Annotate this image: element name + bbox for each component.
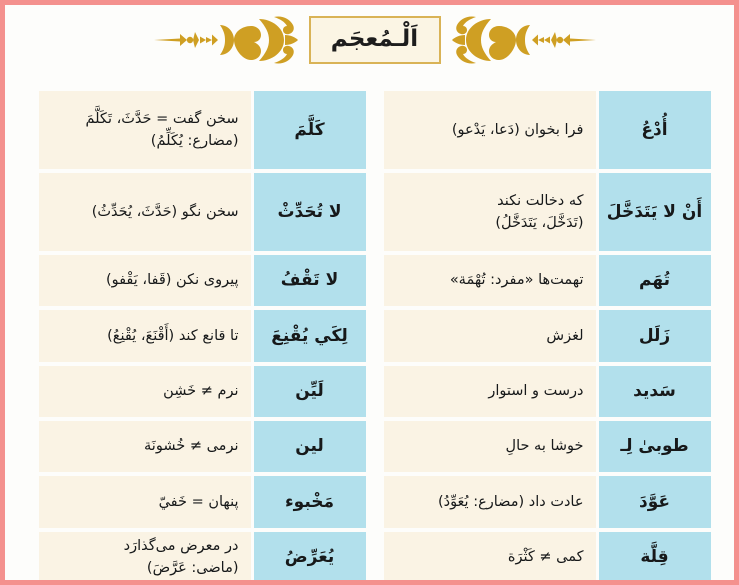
meaning-cell: سخن گفت = حَدَّثَ، تَکَلَّمَ (مضارع: یُک…: [39, 91, 251, 169]
word-text: قِلَّة: [640, 546, 668, 569]
meaning-text: خوشا به حالِ: [396, 435, 584, 457]
word-text: زَلَل: [639, 325, 670, 348]
meaning-cell: که دخالت نکند (تَدَخَّلَ، یَتَدَخَّلُ): [384, 173, 596, 251]
word-cell: لِکَي یُقْنِعَ: [254, 310, 366, 361]
word-text: سَدید: [633, 380, 676, 403]
word-cell: مَخْبوء: [254, 476, 366, 527]
word-text: لا تُحَدِّثْ: [277, 201, 341, 224]
meaning-text: سخن نگو (حَدَّثَ، یُحَدِّثُ): [51, 201, 239, 223]
meaning-cell: پیروی نکن (قَفا، یَقْفو): [39, 255, 251, 306]
word-cell: یُعَرِّضُ: [254, 532, 366, 583]
meaning-cell: عادت داد (مضارع: یُعَوِّدُ): [384, 476, 596, 527]
word-cell: تُهَم: [599, 255, 711, 306]
right-table: أُدْعُ فرا بخوان (دَعا، یَدْعو) أَنْ لا …: [384, 91, 711, 583]
word-cell: لا تَقْفُ: [254, 255, 366, 306]
meaning-text: سخن گفت = حَدَّثَ، تَکَلَّمَ (مضارع: یُک…: [51, 108, 239, 153]
ornament-left-icon: [154, 13, 309, 67]
meaning-cell: پنهان = خَفيّ: [39, 476, 251, 527]
table-row: یُعَرِّضُ در معرض می‌گذارَد (ماضی: عَرَّ…: [39, 532, 366, 583]
word-cell: کَلَّمَ: [254, 91, 366, 169]
left-table: کَلَّمَ سخن گفت = حَدَّثَ، تَکَلَّمَ (مض…: [39, 91, 366, 583]
page-title: اَلْـمُعجَم: [331, 28, 418, 53]
meaning-cell: درست و استوار: [384, 366, 596, 417]
word-cell: عَوَّدَ: [599, 476, 711, 527]
meaning-text: کمی ≠ کَثْرَة: [396, 546, 584, 568]
meaning-text: درست و استوار: [396, 380, 584, 402]
title-box: اَلْـمُعجَم: [309, 16, 441, 64]
meaning-text: عادت داد (مضارع: یُعَوِّدُ): [396, 491, 584, 513]
table-row: لا تُحَدِّثْ سخن نگو (حَدَّثَ، یُحَدِّثُ…: [39, 173, 366, 251]
word-cell: لین: [254, 421, 366, 472]
meaning-cell: فرا بخوان (دَعا، یَدْعو): [384, 91, 596, 169]
meaning-line-2: (تَدَخَّلَ، یَتَدَخَّلُ): [396, 212, 584, 234]
meaning-cell: تا قانع کند (أَقْنَعَ، یُقْنِعُ): [39, 310, 251, 361]
meaning-text: در معرض می‌گذارَد (ماضی: عَرَّضَ): [51, 535, 239, 580]
table-row: کَلَّمَ سخن گفت = حَدَّثَ، تَکَلَّمَ (مض…: [39, 91, 366, 169]
meaning-text: نرم ≠ خَشِن: [51, 380, 239, 402]
meaning-text: لغزش: [396, 325, 584, 347]
meaning-text: نرمی ≠ خُشونَة: [51, 435, 239, 457]
word-cell: أُدْعُ: [599, 91, 711, 169]
meaning-text: تهمت‌ها «مفرد: تُهْمَة»: [396, 269, 584, 291]
table-row: لین نرمی ≠ خُشونَة: [39, 421, 366, 472]
table-row: لا تَقْفُ پیروی نکن (قَفا، یَقْفو): [39, 255, 366, 306]
word-text: طوبیٰ لِـ: [620, 435, 688, 458]
meaning-line-2: (ماضی: عَرَّضَ): [51, 557, 239, 579]
word-text: یُعَرِّضُ: [285, 546, 334, 569]
table-row: مَخْبوء پنهان = خَفيّ: [39, 476, 366, 527]
meaning-cell: خوشا به حالِ: [384, 421, 596, 472]
meaning-line-1: در معرض می‌گذارَد: [124, 538, 239, 554]
meaning-cell: نرم ≠ خَشِن: [39, 366, 251, 417]
meaning-line-2: (مضارع: یُکَلِّمُ): [51, 130, 239, 152]
meaning-text: پیروی نکن (قَفا، یَقْفو): [51, 269, 239, 291]
word-cell: سَدید: [599, 366, 711, 417]
meaning-text: تا قانع کند (أَقْنَعَ، یُقْنِعُ): [51, 325, 239, 347]
table-row: زَلَل لغزش: [384, 310, 711, 361]
meaning-text: پنهان = خَفيّ: [51, 491, 239, 513]
table-row: أَنْ لا یَتَدَخَّلَ که دخالت نکند (تَدَخ…: [384, 173, 711, 251]
word-text: مَخْبوء: [285, 491, 334, 514]
word-text: تُهَم: [639, 269, 670, 292]
meaning-cell: در معرض می‌گذارَد (ماضی: عَرَّضَ): [39, 532, 251, 583]
word-text: لِکَي یُقْنِعَ: [271, 325, 348, 348]
word-cell: طوبیٰ لِـ: [599, 421, 711, 472]
word-text: أَنْ لا یَتَدَخَّلَ: [607, 201, 702, 224]
word-cell: أَنْ لا یَتَدَخَّلَ: [599, 173, 711, 251]
table-row: قِلَّة کمی ≠ کَثْرَة: [384, 532, 711, 583]
table-row: أُدْعُ فرا بخوان (دَعا، یَدْعو): [384, 91, 711, 169]
meaning-line-1: که دخالت نکند: [497, 193, 583, 209]
word-text: عَوَّدَ: [639, 491, 670, 514]
meaning-text: که دخالت نکند (تَدَخَّلَ، یَتَدَخَّلُ): [396, 190, 584, 235]
word-text: لا تَقْفُ: [281, 269, 338, 292]
table-row: طوبیٰ لِـ خوشا به حالِ: [384, 421, 711, 472]
table-row: لِکَي یُقْنِعَ تا قانع کند (أَقْنَعَ، یُ…: [39, 310, 366, 361]
table-row: سَدید درست و استوار: [384, 366, 711, 417]
word-text: لَیِّن: [295, 380, 324, 403]
word-text: کَلَّمَ: [294, 119, 324, 142]
word-text: أُدْعُ: [641, 119, 667, 142]
word-cell: قِلَّة: [599, 532, 711, 583]
meaning-cell: سخن نگو (حَدَّثَ، یُحَدِّثُ): [39, 173, 251, 251]
word-text: لین: [295, 435, 324, 458]
table-row: عَوَّدَ عادت داد (مضارع: یُعَوِّدُ): [384, 476, 711, 527]
word-cell: لا تُحَدِّثْ: [254, 173, 366, 251]
meaning-cell: کمی ≠ کَثْرَة: [384, 532, 596, 583]
vocabulary-page: اَلْـمُعجَم: [0, 0, 739, 585]
meaning-line-1: سخن گفت = حَدَّثَ، تَکَلَّمَ: [85, 111, 238, 127]
vocabulary-tables: أُدْعُ فرا بخوان (دَعا، یَدْعو) أَنْ لا …: [5, 91, 739, 583]
page-header: اَلْـمُعجَم: [5, 9, 739, 71]
meaning-cell: نرمی ≠ خُشونَة: [39, 421, 251, 472]
table-row: لَیِّن نرم ≠ خَشِن: [39, 366, 366, 417]
meaning-text: فرا بخوان (دَعا، یَدْعو): [396, 119, 584, 141]
table-row: تُهَم تهمت‌ها «مفرد: تُهْمَة»: [384, 255, 711, 306]
meaning-cell: تهمت‌ها «مفرد: تُهْمَة»: [384, 255, 596, 306]
word-cell: لَیِّن: [254, 366, 366, 417]
ornament-right-icon: [441, 13, 596, 67]
meaning-cell: لغزش: [384, 310, 596, 361]
word-cell: زَلَل: [599, 310, 711, 361]
